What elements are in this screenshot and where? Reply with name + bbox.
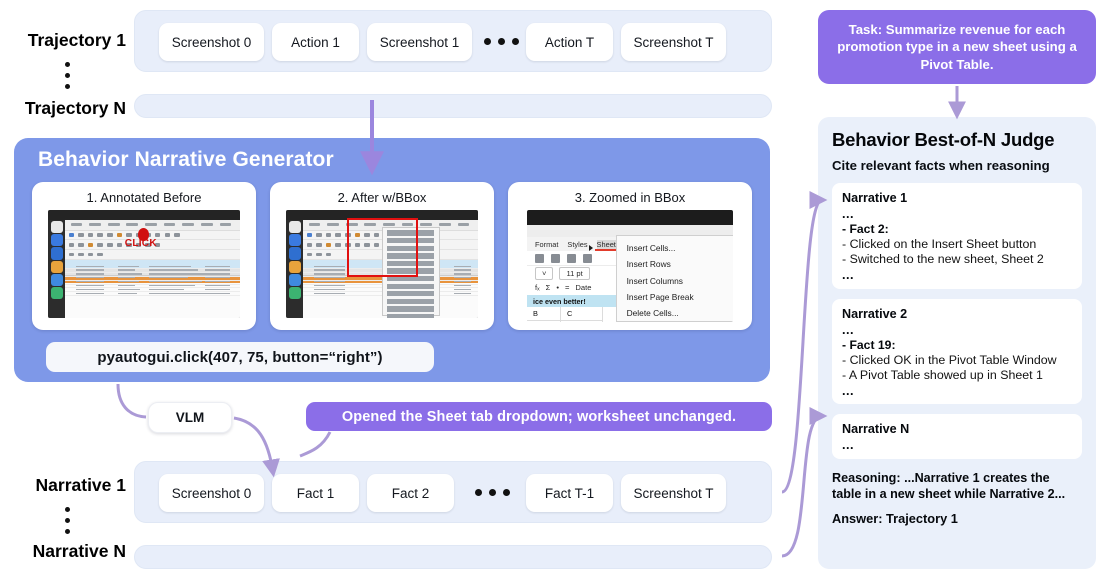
narrative-1-label: Narrative 1 (8, 475, 126, 496)
narrative-card-line: - Switched to the new sheet, Sheet 2 (842, 252, 1072, 266)
narrative-card-fact-label: - Fact 2: (842, 222, 1072, 236)
menu-sheet[interactable]: Sheet (597, 240, 616, 249)
menu-item-insert-page-break[interactable]: Insert Page Break (617, 289, 733, 305)
fx-icon: fₓ (535, 283, 540, 292)
screenshot-annotated-before[interactable]: CLICK (48, 210, 240, 318)
judge-narrative-card-1[interactable]: Narrative 1 ... - Fact 2: - Clicked on t… (832, 183, 1082, 289)
screenshot-zoomed-bbox[interactable]: Format Styles Sheet Data Tools Wi ˅ 11 p… (527, 210, 733, 322)
trajectory-1-band: Screenshot 0 Action 1 Screenshot 1 Actio… (134, 10, 772, 72)
narrative-chip-screenshot-t[interactable]: Screenshot T (621, 474, 726, 512)
narrative-ellipsis (475, 489, 510, 496)
arrow-narrativeN-to-judge (782, 416, 822, 556)
generator-title: Behavior Narrative Generator (38, 148, 334, 172)
cell-week: Week (561, 321, 603, 322)
sigma-icon: Σ (546, 283, 551, 292)
font-size-value[interactable]: 11 pt (559, 267, 589, 280)
trajectory-chip-screenshot-t[interactable]: Screenshot T (621, 23, 726, 61)
formula-value: Date (575, 283, 591, 292)
narrative-card-ellipsis-top: ... (842, 325, 1072, 336)
click-annotation-label: CLICK (125, 238, 157, 249)
col-header-c: C (561, 307, 603, 321)
diagram-root: Trajectory 1 Trajectory N Screenshot 0 A… (0, 0, 1100, 569)
narrative-chip-fact-2[interactable]: Fact 2 (367, 474, 454, 512)
trajectory-chip-action-t[interactable]: Action T (526, 23, 613, 61)
trajectory-n-band (134, 94, 772, 118)
cell-month: nth (527, 321, 561, 322)
narrative-card-line: - Clicked OK in the Pivot Table Window (842, 353, 1072, 367)
task-bubble: Task: Summarize revenue for each promoti… (818, 10, 1096, 84)
judge-subtitle: Cite relevant facts when reasoning (832, 158, 1082, 173)
arrow-badge-to-narrative-row (300, 432, 330, 456)
narrative-card-ellipsis-bottom: ... (842, 386, 1072, 397)
chevron-down-icon[interactable]: ˅ (535, 267, 553, 280)
menu-item-insert-rows[interactable]: Insert Rows (617, 256, 733, 272)
judge-title: Behavior Best-of-N Judge (832, 129, 1082, 151)
narrative-card-title: Narrative N (842, 422, 1072, 436)
menu-styles[interactable]: Styles (567, 240, 587, 249)
bounding-box-highlight (347, 218, 418, 277)
trajectory-n-label: Trajectory N (8, 98, 126, 119)
narrative-n-label: Narrative N (8, 541, 126, 562)
action-code-pill: pyautogui.click(407, 75, button=“right”) (46, 342, 434, 372)
screenshot-after-with-bbox[interactable] (286, 210, 478, 318)
narrative-1-band: Screenshot 0 Fact 1 Fact 2 Fact T-1 Scre… (134, 461, 772, 523)
narrative-fact-badge: Opened the Sheet tab dropdown; worksheet… (306, 402, 772, 431)
dot-icon: • (556, 283, 559, 292)
trajectory-ellipsis (484, 38, 519, 45)
menu-format[interactable]: Format (535, 240, 558, 249)
panel-1-caption: 1. Annotated Before (32, 190, 256, 205)
panel-2-caption: 2. After w/BBox (270, 190, 494, 205)
sheet-dropdown-menu: Insert Cells... Insert Rows Insert Colum… (616, 235, 733, 322)
narrative-card-title: Narrative 1 (842, 191, 1072, 205)
arrow-narrative1-to-judge (782, 200, 822, 492)
narrative-chip-screenshot-0[interactable]: Screenshot 0 (159, 474, 264, 512)
equals-icon: = (565, 283, 569, 292)
col-header-b: B (527, 307, 561, 321)
narrative-card-ellipsis-bottom: ... (842, 270, 1072, 281)
narrative-chip-fact-t-1[interactable]: Fact T-1 (526, 474, 613, 512)
menu-item-insert-cells[interactable]: Insert Cells... (617, 240, 733, 256)
behavior-narrative-generator-panel: Behavior Narrative Generator 1. Annotate… (14, 138, 770, 382)
narrative-card-line: - Clicked on the Insert Sheet button (842, 237, 1072, 251)
panel-annotated-before: 1. Annotated Before (32, 182, 256, 330)
narrative-chip-fact-1[interactable]: Fact 1 (272, 474, 359, 512)
trajectory-vertical-ellipsis (62, 62, 72, 95)
mouse-cursor-icon (589, 245, 593, 251)
narrative-card-line: - A Pivot Table showed up in Sheet 1 (842, 368, 1072, 382)
menu-item-insert-columns[interactable]: Insert Columns (617, 272, 733, 288)
panel-zoomed-in-bbox: 3. Zoomed in BBox Format Styles Sheet Da… (508, 182, 752, 330)
vlm-node[interactable]: VLM (148, 402, 232, 433)
narrative-n-band (134, 545, 772, 569)
trajectory-chip-screenshot-1[interactable]: Screenshot 1 (367, 23, 472, 61)
menu-item-delete-rows[interactable]: Delete Rows (617, 322, 733, 323)
panel-after-with-bbox: 2. After w/BBox (270, 182, 494, 330)
trajectory-1-label: Trajectory 1 (8, 30, 126, 51)
narrative-card-ellipsis-top: ... (842, 209, 1072, 220)
panel-3-caption: 3. Zoomed in BBox (508, 190, 752, 205)
behavior-best-of-n-judge-panel: Behavior Best-of-N Judge Cite relevant f… (818, 117, 1096, 569)
narrative-card-title: Narrative 2 (842, 307, 1072, 321)
judge-reasoning-text: Reasoning: ...Narrative 1 creates the ta… (832, 470, 1082, 503)
narrative-vertical-ellipsis (62, 507, 72, 540)
judge-narrative-card-2[interactable]: Narrative 2 ... - Fact 19: - Clicked OK … (832, 299, 1082, 405)
menu-item-delete-cells[interactable]: Delete Cells... (617, 305, 733, 321)
trajectory-chip-action-1[interactable]: Action 1 (272, 23, 359, 61)
judge-answer-text: Answer: Trajectory 1 (832, 511, 1082, 526)
narrative-card-ellipsis-top: ... (842, 440, 1072, 451)
narrative-card-fact-label: - Fact 19: (842, 338, 1072, 352)
trajectory-chip-screenshot-0[interactable]: Screenshot 0 (159, 23, 264, 61)
arrow-generator-to-vlm (118, 384, 146, 417)
judge-narrative-card-n[interactable]: Narrative N ... (832, 414, 1082, 458)
